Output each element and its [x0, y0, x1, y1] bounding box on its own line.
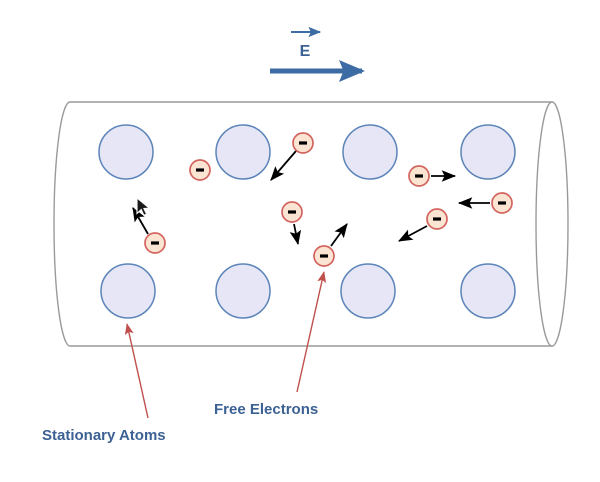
atom-bottom-3 — [341, 264, 395, 318]
atom-bottom-4 — [461, 264, 515, 318]
conductor-diagram: E — [0, 0, 600, 482]
electron-3 — [409, 166, 429, 186]
field-symbol-label: E — [300, 43, 311, 60]
atom-top-4 — [461, 125, 515, 179]
atom-top-1 — [99, 125, 153, 179]
annotation-stationary-atoms-label: Stationary Atoms — [42, 427, 166, 444]
electric-field-indicator: E — [270, 32, 362, 71]
electron-1 — [190, 160, 210, 180]
atom-top-3 — [343, 125, 397, 179]
electron-8 — [314, 246, 334, 266]
diagram-canvas: E — [0, 0, 600, 482]
electron-5 — [145, 233, 165, 253]
electron-6 — [282, 202, 302, 222]
electron-2 — [293, 133, 313, 153]
annotation-free-electrons-label: Free Electrons — [214, 401, 318, 418]
conductor-right-cap — [536, 102, 568, 346]
atom-bottom-1 — [101, 264, 155, 318]
atom-bottom-2 — [216, 264, 270, 318]
atom-top-2 — [216, 125, 270, 179]
electron-7 — [427, 209, 447, 229]
electron-4 — [492, 193, 512, 213]
